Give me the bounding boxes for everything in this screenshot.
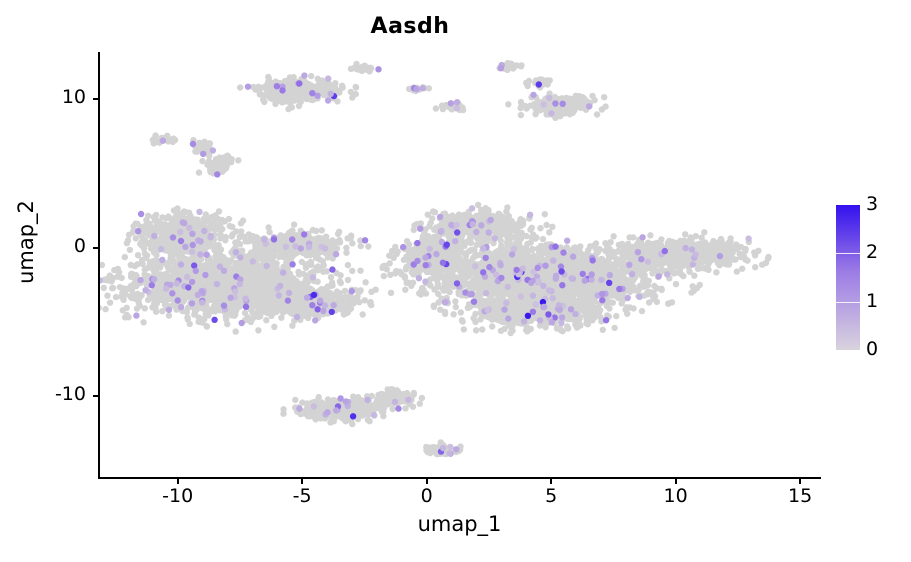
colorbar-label: 1: [866, 290, 878, 312]
y-tick-label: 10: [0, 86, 86, 108]
y-axis-label: umap_2: [14, 152, 38, 332]
colorbar-tick-mark: [836, 253, 860, 254]
x-tick-label: 0: [397, 485, 457, 507]
x-tick-mark: [301, 479, 303, 484]
y-tick-mark: [93, 247, 98, 249]
x-axis-label: umap_1: [98, 512, 821, 536]
colorbar-tick-mark: [836, 302, 860, 303]
scatter-points-svg: [98, 52, 820, 478]
figure-canvas: Aasdh -10-5051015 100-10 umap_1 umap_2 0…: [0, 0, 911, 562]
x-tick-mark: [426, 479, 428, 484]
x-tick-label: -10: [148, 485, 208, 507]
x-tick-mark: [675, 479, 677, 484]
colorbar-gradient: [836, 205, 860, 350]
y-axis-spine: [98, 52, 100, 479]
x-tick-label: -5: [272, 485, 332, 507]
colorbar-label: 2: [866, 241, 878, 263]
y-tick-mark: [93, 395, 98, 397]
scatter-points-background: [98, 60, 772, 457]
y-tick-label: -10: [0, 383, 86, 405]
x-tick-label: 10: [646, 485, 706, 507]
x-axis-spine: [98, 477, 821, 479]
scatter-plot-area[interactable]: [98, 52, 820, 478]
colorbar-label: 0: [866, 338, 878, 360]
x-tick-mark: [550, 479, 552, 484]
x-tick-label: 5: [521, 485, 581, 507]
x-tick-mark: [799, 479, 801, 484]
x-tick-mark: [177, 479, 179, 484]
colorbar-label: 3: [866, 193, 878, 215]
y-tick-mark: [93, 98, 98, 100]
x-tick-label: 15: [770, 485, 830, 507]
colorbar-legend[interactable]: 0123: [836, 205, 906, 350]
page-title: Aasdh: [0, 14, 820, 39]
y-tick-label: 0: [0, 235, 86, 257]
